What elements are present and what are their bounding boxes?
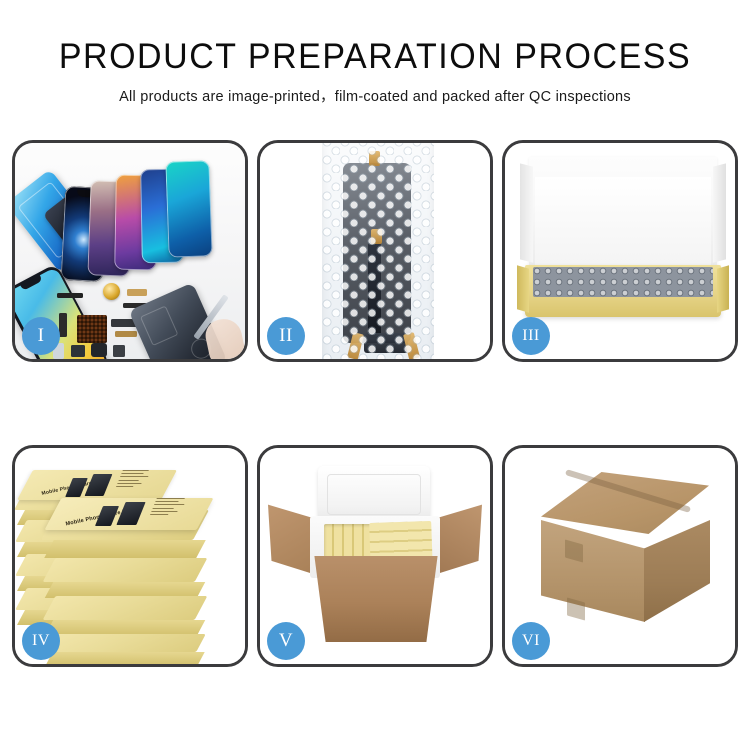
panel-step-5[interactable]: V bbox=[257, 445, 493, 667]
box-front-2 bbox=[49, 558, 201, 582]
step-badge-5: V bbox=[267, 622, 305, 660]
step-badge-2: II bbox=[267, 317, 305, 355]
small-part bbox=[91, 343, 107, 357]
step-badge-3: III bbox=[512, 317, 550, 355]
carton-body bbox=[306, 556, 446, 642]
box-front-3 bbox=[49, 596, 201, 620]
small-part bbox=[71, 345, 85, 357]
small-part bbox=[127, 289, 147, 296]
small-part bbox=[57, 293, 83, 298]
bubble-texture bbox=[322, 143, 434, 359]
step-badge-4: IV bbox=[22, 622, 60, 660]
carton-side-face bbox=[644, 520, 710, 622]
foam-sheet bbox=[535, 177, 711, 265]
product-preparation-infographic: PRODUCT PREPARATION PROCESS All products… bbox=[0, 0, 750, 750]
carton-top-face bbox=[541, 472, 709, 534]
panel-step-6[interactable]: VI bbox=[502, 445, 738, 667]
panel-step-4[interactable]: Mobile Phone Spare Parts bbox=[12, 445, 248, 667]
panel-step-1[interactable]: I bbox=[12, 140, 248, 362]
coil-part bbox=[103, 283, 120, 300]
phone-teal bbox=[165, 160, 212, 257]
page-title: PRODUCT PREPARATION PROCESS bbox=[11, 38, 739, 76]
panel-step-2[interactable]: II bbox=[257, 140, 493, 362]
grey-bubble-wrap bbox=[533, 267, 713, 297]
small-part bbox=[113, 345, 125, 357]
tape-tab bbox=[567, 597, 585, 620]
box-front-4 bbox=[49, 634, 201, 652]
page-subtitle: All products are image-printed，film-coat… bbox=[0, 87, 750, 107]
chip-grid-part bbox=[77, 315, 107, 343]
bubble-wrap-bag bbox=[322, 143, 434, 359]
step-badge-1: I bbox=[22, 317, 60, 355]
small-part bbox=[59, 313, 67, 337]
process-steps-grid: I II bbox=[12, 140, 738, 667]
panel-step-3[interactable]: III bbox=[502, 140, 738, 362]
header: PRODUCT PREPARATION PROCESS All products… bbox=[0, 0, 750, 107]
carton-front-face bbox=[541, 520, 645, 622]
step-badge-6: VI bbox=[512, 622, 550, 660]
small-part bbox=[115, 331, 137, 337]
